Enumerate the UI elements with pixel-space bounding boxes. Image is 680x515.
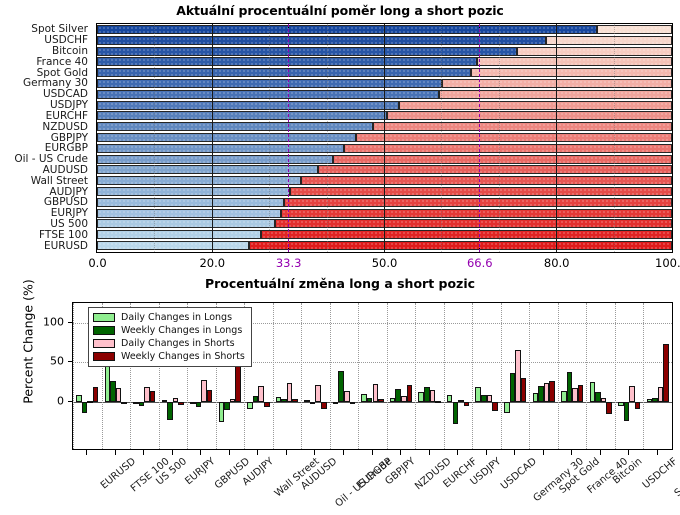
top-chart-plot-area — [96, 23, 673, 253]
legend-item-label: Daily Changes in Shorts — [121, 338, 235, 349]
bottom-chart-y-tick-label: 100 — [43, 315, 64, 328]
bottom-chart-bar — [521, 378, 527, 402]
bottom-chart-bar — [292, 399, 298, 401]
short-position-segment — [318, 165, 672, 174]
bottom-chart-category-gridline — [558, 303, 559, 449]
bottom-chart-category-gridline — [387, 303, 388, 449]
bottom-chart-bar — [264, 402, 270, 408]
top-chart-tick-mark — [288, 248, 289, 252]
bottom-chart-x-tick-mark — [229, 450, 230, 455]
bottom-chart-bar — [321, 402, 327, 409]
bottom-chart-bar — [629, 386, 635, 402]
top-chart-x-axis-labels: 0.020.033.350.066.680.0100.0 — [96, 256, 673, 272]
long-position-segment — [97, 176, 301, 185]
top-chart-title: Aktuální procentuální poměr long a short… — [0, 3, 680, 18]
top-chart-category-label: France 40 — [36, 57, 88, 67]
top-chart-tick-mark — [384, 24, 385, 28]
bottom-chart-category-gridline — [273, 303, 274, 449]
short-position-segment — [284, 198, 672, 207]
bottom-chart-category-gridline — [643, 303, 644, 449]
short-position-segment — [301, 176, 672, 185]
legend-color-swatch — [93, 313, 115, 322]
short-position-segment — [261, 230, 672, 239]
short-position-segment — [399, 101, 672, 110]
bottom-chart-category-gridline — [472, 303, 473, 449]
top-chart-category-label: FTSE 100 — [39, 230, 88, 240]
bottom-chart-bar — [82, 402, 88, 414]
bottom-chart-category-gridline — [529, 303, 530, 449]
bottom-chart-x-tick-mark — [571, 450, 572, 455]
bottom-chart-bar — [258, 386, 264, 402]
bottom-chart-bar — [464, 402, 470, 407]
top-chart-category-label: Oil - US Crude — [14, 154, 88, 164]
bottom-chart-x-tick-mark — [457, 450, 458, 455]
bottom-chart-category-gridline — [501, 303, 502, 449]
bottom-chart-bar — [378, 399, 384, 401]
bottom-chart-bar — [167, 402, 173, 420]
top-chart-category-label: EURCHF — [46, 111, 88, 121]
bottom-chart-bar — [350, 402, 356, 404]
short-position-segment — [477, 57, 673, 66]
bottom-chart-category-gridline — [330, 303, 331, 449]
bottom-chart-bar — [407, 385, 413, 402]
short-position-segment — [439, 90, 672, 99]
top-chart-x-tick-label: 0.0 — [88, 256, 106, 270]
bottom-chart-bar — [624, 402, 630, 421]
long-position-segment — [97, 187, 290, 196]
top-chart-category-label: Bitcoin — [52, 46, 88, 56]
legend-item: Weekly Changes in Longs — [93, 324, 245, 337]
short-position-segment — [546, 36, 673, 45]
bottom-chart-x-tick-mark — [372, 450, 373, 455]
legend-item-label: Daily Changes in Longs — [121, 312, 232, 323]
top-chart-bar-row — [97, 209, 672, 218]
long-position-segment — [97, 111, 387, 120]
top-chart-tick-mark — [384, 248, 385, 252]
bottom-chart-x-tick-label: USDCHF — [641, 456, 680, 491]
top-chart-y-axis-labels: EURUSDFTSE 100US 500EURJPYGBPUSDAUDJPYWa… — [0, 23, 92, 253]
top-chart-category-label: GBPUSD — [44, 197, 88, 207]
top-chart-category-label: EURUSD — [44, 241, 88, 251]
short-position-segment — [373, 122, 672, 131]
short-position-segment — [290, 187, 672, 196]
bottom-chart-x-tick-mark — [514, 450, 515, 455]
short-position-segment — [249, 241, 672, 250]
bottom-chart-y-tick-label: 0 — [57, 394, 64, 407]
bottom-chart-bar — [492, 402, 498, 411]
top-chart-category-label: Germany 30 — [23, 78, 88, 88]
long-position-segment — [97, 57, 477, 66]
top-chart-bar-row — [97, 79, 672, 88]
bottom-chart-x-axis-labels: EURUSDFTSE 100US 500EURJPYGBPUSDAUDJPYWa… — [72, 450, 673, 514]
top-chart-x-tick-label: 50.0 — [372, 256, 398, 270]
bottom-chart-x-tick-mark — [543, 450, 544, 455]
bottom-chart-bar — [93, 387, 99, 402]
bottom-chart-bar — [504, 402, 510, 413]
top-chart-category-label: USDCAD — [43, 89, 88, 99]
long-position-segment — [97, 144, 344, 153]
bottom-chart-x-tick-mark — [115, 450, 116, 455]
bottom-chart-bar — [663, 344, 669, 402]
bottom-chart-x-tick-mark — [257, 450, 258, 455]
long-position-segment — [97, 25, 597, 34]
short-position-segment — [356, 133, 672, 142]
top-chart-x-tick-label: 80.0 — [544, 256, 570, 270]
bottom-chart-legend: Daily Changes in LongsWeekly Changes in … — [88, 307, 252, 367]
bottom-chart-x-tick-mark — [600, 450, 601, 455]
top-chart-x-tick-label: 33.3 — [276, 256, 302, 270]
bottom-chart-bar — [121, 402, 127, 404]
bottom-chart-category-gridline — [415, 303, 416, 449]
short-position-segment — [275, 219, 672, 228]
long-position-segment — [97, 47, 517, 56]
top-chart-bar-row — [97, 133, 672, 142]
long-position-segment — [97, 36, 546, 45]
top-chart-bar-row — [97, 198, 672, 207]
top-chart-category-label: EURGBP — [45, 143, 88, 153]
bottom-chart-bar — [150, 391, 156, 402]
short-position-segment — [471, 68, 672, 77]
legend-item-label: Weekly Changes in Shorts — [121, 351, 245, 362]
long-position-segment — [97, 241, 249, 250]
short-position-segment — [281, 209, 672, 218]
top-chart-category-label: EURJPY — [51, 208, 88, 218]
top-chart-bar-row — [97, 176, 672, 185]
bottom-chart-y-tick-mark — [68, 361, 72, 362]
long-position-segment — [97, 122, 373, 131]
top-chart-tick-mark — [212, 24, 213, 28]
top-chart-bar-row — [97, 219, 672, 228]
legend-item: Daily Changes in Longs — [93, 311, 245, 324]
legend-item: Weekly Changes in Shorts — [93, 350, 245, 363]
bottom-chart-bar — [344, 391, 350, 401]
short-position-segment — [517, 47, 672, 56]
top-chart-category-label: AUDJPY — [49, 187, 88, 197]
top-chart-x-tick-label: 20.0 — [199, 256, 225, 270]
bottom-chart-bar — [116, 388, 122, 401]
top-chart-tick-mark — [556, 248, 557, 252]
bottom-chart-bar — [196, 402, 202, 408]
long-position-segment — [97, 155, 333, 164]
top-chart-category-label: Wall Street — [31, 176, 88, 186]
short-position-segment — [333, 155, 672, 164]
bottom-chart-bar — [178, 402, 184, 405]
top-chart-category-label: US 500 — [50, 219, 88, 229]
bottom-chart-bar — [447, 395, 453, 402]
top-chart-tick-mark — [212, 248, 213, 252]
top-chart-bar-row — [97, 101, 672, 110]
bottom-chart-x-tick-mark — [172, 450, 173, 455]
bottom-chart-bar — [487, 395, 493, 402]
bottom-chart-bar — [453, 402, 459, 424]
top-chart-bar-row — [97, 57, 672, 66]
bottom-chart-bar — [247, 402, 253, 409]
bottom-chart-y-tick-mark — [68, 401, 72, 402]
short-position-segment — [387, 111, 672, 120]
top-chart-tick-mark — [288, 24, 289, 28]
top-chart-tick-mark — [479, 24, 480, 28]
bottom-chart-x-tick-mark — [429, 450, 430, 455]
bottom-chart-bar — [224, 402, 230, 411]
top-chart-tick-mark — [479, 248, 480, 252]
short-position-segment — [344, 144, 672, 153]
top-chart-category-label: NZDUSD — [42, 122, 88, 132]
bottom-chart-x-tick-mark — [200, 450, 201, 455]
short-position-segment — [597, 25, 672, 34]
long-position-segment — [97, 209, 281, 218]
top-chart-bar-row — [97, 230, 672, 239]
bottom-chart-x-tick-mark — [343, 450, 344, 455]
long-position-segment — [97, 230, 261, 239]
bottom-chart-x-tick-mark — [314, 450, 315, 455]
top-chart-x-tick-label: 66.6 — [467, 256, 493, 270]
long-position-segment — [97, 90, 439, 99]
bottom-chart-x-tick-mark — [286, 450, 287, 455]
bottom-chart-bar — [435, 401, 441, 403]
top-chart-category-label: Spot Gold — [37, 68, 88, 78]
long-position-segment — [97, 68, 471, 77]
bottom-chart-x-tick-label: USDCAD — [499, 456, 539, 492]
top-chart-bar-row — [97, 90, 672, 99]
long-position-segment — [97, 165, 318, 174]
bottom-chart-bar — [333, 402, 339, 404]
long-position-segment — [97, 198, 284, 207]
top-chart-tick-mark — [556, 24, 557, 28]
top-chart-bar-row — [97, 111, 672, 120]
bottom-chart-category-gridline — [73, 303, 74, 449]
bottom-chart-x-tick-mark — [628, 450, 629, 455]
bottom-chart-bar — [139, 402, 145, 407]
bottom-chart-y-tick-label: 50 — [50, 355, 64, 368]
top-chart-category-label: Spot Silver — [31, 24, 88, 34]
legend-color-swatch — [93, 339, 115, 348]
legend-item-label: Weekly Changes in Longs — [121, 325, 242, 336]
bottom-chart-category-gridline — [301, 303, 302, 449]
bottom-chart-bar — [578, 385, 584, 402]
bottom-chart-category-gridline — [358, 303, 359, 449]
legend-item: Daily Changes in Shorts — [93, 337, 245, 350]
bottom-chart-category-gridline — [586, 303, 587, 449]
bottom-chart-x-tick-mark — [657, 450, 658, 455]
top-chart-category-label: USDCHF — [44, 35, 88, 45]
top-chart-bar-row — [97, 36, 672, 45]
bottom-chart-category-gridline — [615, 303, 616, 449]
legend-color-swatch — [93, 352, 115, 361]
bottom-chart-bar — [635, 402, 641, 409]
bottom-chart-bar — [606, 402, 612, 415]
top-chart-bar-row — [97, 155, 672, 164]
bottom-chart-bar — [549, 381, 555, 402]
top-chart-bar-row — [97, 187, 672, 196]
bottom-chart-bar — [207, 390, 213, 402]
top-chart-bar-row — [97, 68, 672, 77]
bottom-chart-bar — [430, 390, 436, 402]
bottom-chart-bar — [310, 402, 316, 404]
top-chart-bar-row — [97, 122, 672, 131]
top-chart-category-label: GBPJPY — [51, 133, 88, 143]
long-position-segment — [97, 101, 399, 110]
top-chart-bar-row — [97, 165, 672, 174]
top-chart-bar-row — [97, 47, 672, 56]
top-chart-x-tick-label: 100.0 — [655, 256, 680, 270]
top-chart-bar-row — [97, 144, 672, 153]
legend-color-swatch — [93, 326, 115, 335]
bottom-chart-x-tick-mark — [86, 450, 87, 455]
bottom-chart-title: Procentuální změna long a short pozic — [0, 276, 680, 291]
bottom-chart-y-tick-mark — [68, 322, 72, 323]
bottom-chart-bar — [315, 385, 321, 402]
bottom-chart-category-gridline — [444, 303, 445, 449]
short-position-segment — [442, 79, 672, 88]
top-chart-category-label: USDJPY — [50, 100, 88, 110]
top-chart-category-label: AUDUSD — [43, 165, 88, 175]
long-position-segment — [97, 219, 275, 228]
long-position-segment — [97, 79, 442, 88]
bottom-chart-x-tick-mark — [400, 450, 401, 455]
bottom-chart-x-tick-mark — [143, 450, 144, 455]
long-position-segment — [97, 133, 356, 142]
bottom-chart-y-axis-labels: 050100 — [34, 302, 68, 450]
bottom-chart-x-tick-mark — [486, 450, 487, 455]
